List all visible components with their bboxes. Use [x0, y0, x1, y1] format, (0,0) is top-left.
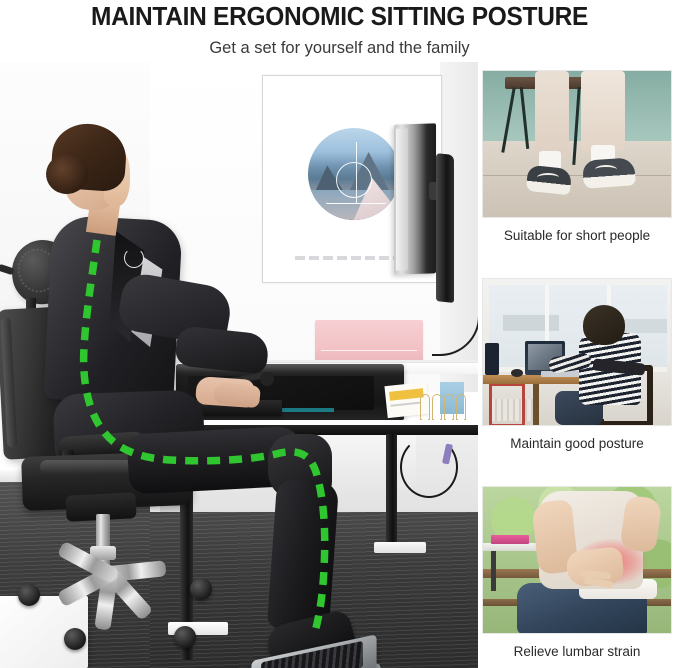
- header: MAINTAIN ERGONOMIC SITTING POSTURE Get a…: [0, 0, 679, 62]
- p2-red-chair: [489, 383, 525, 426]
- panel-good-posture-image: [482, 278, 672, 426]
- p3-scene: [483, 487, 671, 633]
- p1-trouser-left: [535, 71, 569, 157]
- necklace: [124, 248, 144, 268]
- chair-caster-1: [64, 628, 86, 650]
- hero-photo: [0, 62, 478, 668]
- p1-trouser-right: [581, 71, 625, 151]
- p2-scene: [483, 279, 671, 425]
- p1-lace-right: [595, 165, 617, 174]
- panel-lumbar-strain-caption: Relieve lumbar strain: [482, 634, 672, 660]
- feature-panels: Suitable for short people: [482, 62, 679, 668]
- chair-star-base: [18, 562, 208, 648]
- p1-scene: [483, 71, 671, 217]
- panel-short-people[interactable]: Suitable for short people: [482, 70, 672, 244]
- chair-caster-3: [18, 584, 40, 606]
- p1-floor: [483, 141, 672, 218]
- p1-lace-left: [537, 173, 559, 182]
- page-title: MAINTAIN ERGONOMIC SITTING POSTURE: [14, 0, 666, 32]
- panel-short-people-image: [482, 70, 672, 218]
- panel-lumbar-strain-image: [482, 486, 672, 634]
- woman-forearm: [174, 325, 270, 374]
- panel-good-posture[interactable]: Maintain good posture: [482, 278, 672, 452]
- p2-boy-head: [583, 305, 625, 345]
- p2-building-2: [623, 319, 667, 333]
- page-subtitle: Get a set for yourself and the family: [10, 32, 669, 60]
- p2-building-1: [503, 315, 559, 331]
- woman-shin: [267, 478, 339, 632]
- p3-table-leg: [491, 551, 496, 591]
- p3-pink-book: [491, 535, 529, 544]
- ergonomic-footrest: [250, 648, 378, 668]
- panel-lumbar-strain[interactable]: Relieve lumbar strain: [482, 486, 672, 660]
- panel-good-posture-caption: Maintain good posture: [482, 426, 672, 452]
- chair-caster-4: [190, 578, 212, 600]
- p1-floor-seam: [483, 175, 672, 176]
- product-feature-page: MAINTAIN ERGONOMIC SITTING POSTURE Get a…: [0, 0, 679, 668]
- chair-caster-2: [174, 626, 196, 648]
- panel-short-people-caption: Suitable for short people: [482, 218, 672, 244]
- p2-desk-leg: [533, 384, 539, 426]
- p2-mouse: [511, 369, 523, 377]
- p2-phone: [485, 343, 499, 375]
